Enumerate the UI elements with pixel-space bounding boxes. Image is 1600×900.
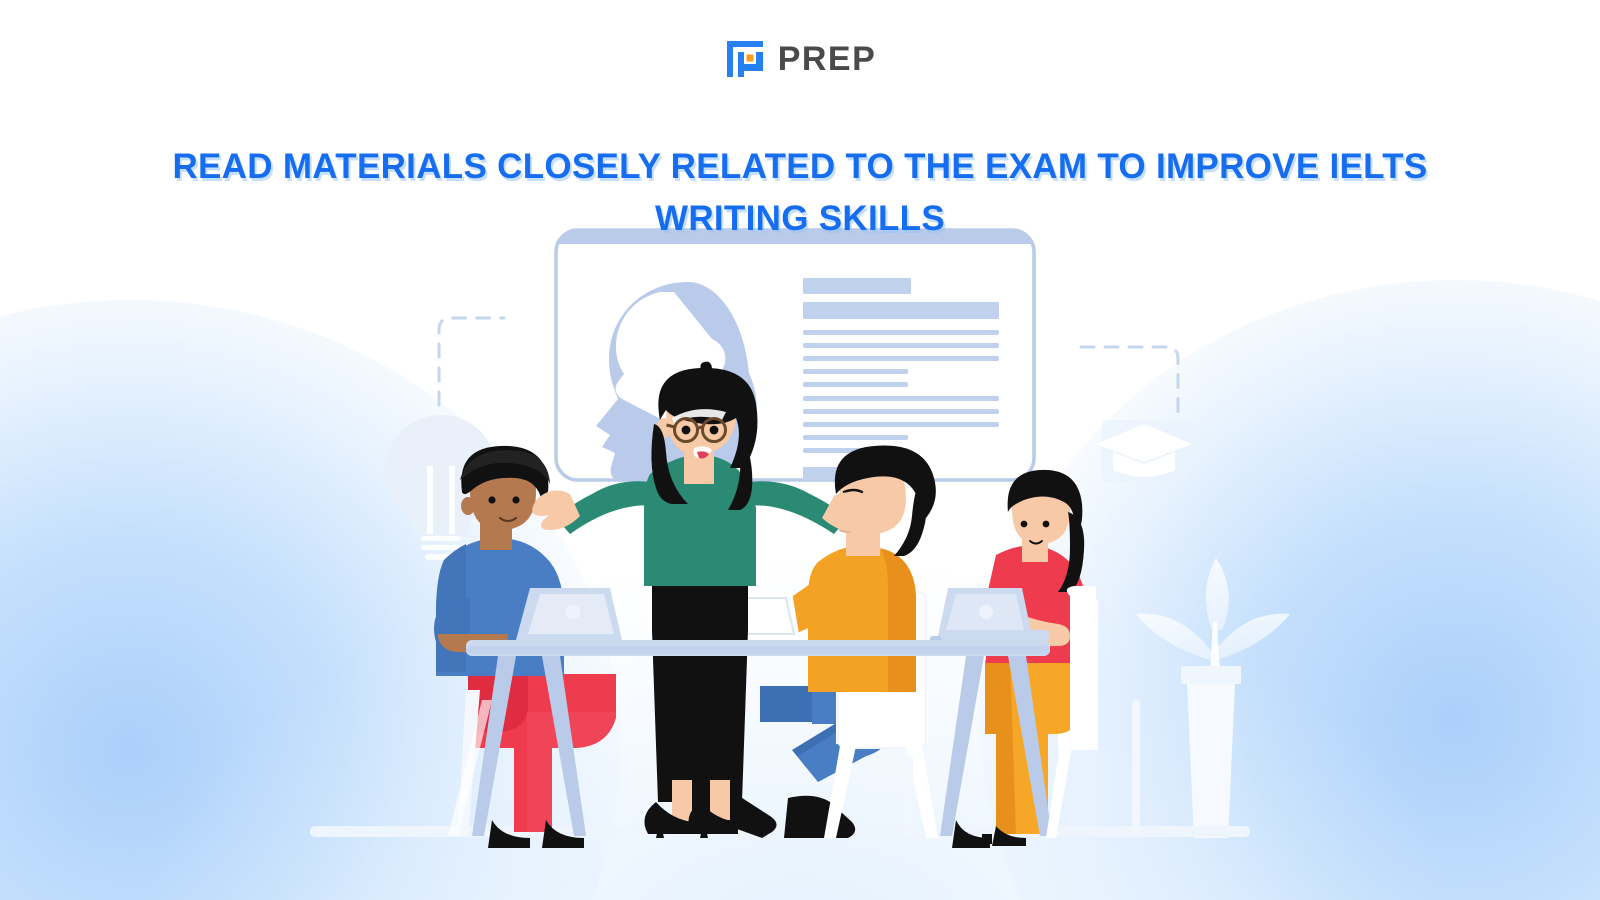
potted-plant — [1136, 558, 1290, 838]
dashed-corner-left — [439, 318, 504, 405]
brand-wordmark: PREP — [778, 42, 877, 76]
brand-logo[interactable]: PREP — [0, 30, 1600, 88]
graduation-cap-watermark — [1096, 420, 1192, 482]
dashed-corner-right — [1081, 347, 1178, 412]
presentation-whiteboard — [556, 230, 1034, 511]
classroom-illustration — [0, 0, 1600, 900]
banner-stage: PREP Read materials closely related to t… — [0, 0, 1600, 900]
page-title: Read materials closely related to the ex… — [170, 141, 1430, 245]
prep-logo-mark-icon — [724, 38, 766, 80]
conference-table — [940, 630, 1050, 640]
